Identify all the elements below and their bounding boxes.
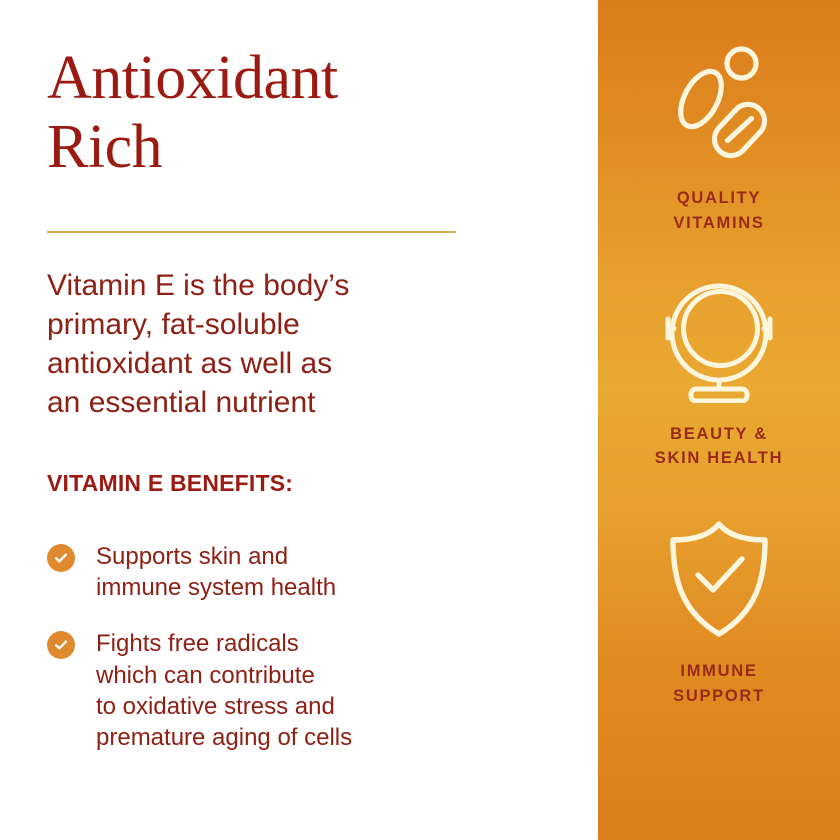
feature-badge-beauty-skin-health: BEAUTY & SKIN HEALTH bbox=[598, 280, 840, 472]
check-circle-icon bbox=[47, 544, 75, 572]
feature-sidebar: QUALITY VITAMINS bbox=[598, 0, 840, 840]
check-circle-icon bbox=[47, 631, 75, 659]
content-panel: Antioxidant Rich Vitamin E is the body’s… bbox=[0, 0, 598, 840]
title-divider bbox=[47, 231, 456, 233]
list-item-label: Fights free radicals which can contribut… bbox=[96, 627, 352, 753]
list-item-label: Supports skin and immune system health bbox=[96, 540, 336, 603]
feature-badge-immune-support: IMMUNE SUPPORT bbox=[598, 517, 840, 709]
feature-badge-label: QUALITY VITAMINS bbox=[673, 186, 764, 236]
benefits-list: Supports skin and immune system health F… bbox=[47, 540, 467, 753]
list-item: Fights free radicals which can contribut… bbox=[47, 627, 467, 753]
page-title: Antioxidant Rich bbox=[47, 44, 567, 183]
vanity-mirror-icon bbox=[658, 280, 780, 404]
list-item: Supports skin and immune system health bbox=[47, 540, 467, 603]
benefits-heading: VITAMIN E BENEFITS: bbox=[47, 470, 293, 498]
feature-badge-quality-vitamins: QUALITY VITAMINS bbox=[598, 44, 840, 236]
feature-badge-label: IMMUNE SUPPORT bbox=[673, 659, 765, 709]
feature-badge-label: BEAUTY & SKIN HEALTH bbox=[655, 422, 783, 472]
pills-icon bbox=[658, 44, 780, 168]
intro-paragraph: Vitamin E is the body’s primary, fat-sol… bbox=[47, 266, 447, 422]
shield-check-icon bbox=[658, 517, 780, 641]
infographic-page: Antioxidant Rich Vitamin E is the body’s… bbox=[0, 0, 840, 840]
